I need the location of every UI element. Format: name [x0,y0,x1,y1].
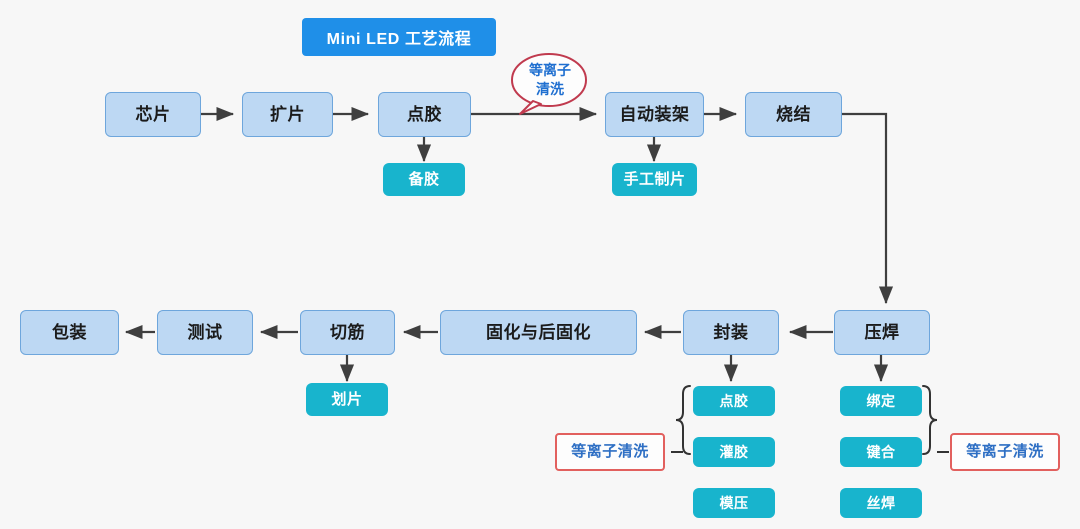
sub-node-label: 丝焊 [867,495,896,511]
group-right-item-die-bond[interactable]: 绑定 [840,386,922,416]
flowchart-canvas: Mini LED 工艺流程 芯片 扩片 点胶 自动装架 烧结 备胶 手工制片 等… [0,0,1080,529]
sub-node-label: 手工制片 [623,171,685,188]
process-label: 封装 [714,323,749,343]
sub-node-label: 键合 [867,444,896,460]
group-right-item-wire-weld[interactable]: 丝焊 [840,488,922,518]
process-node-chip[interactable]: 芯片 [105,92,201,137]
plasma-callout-bubble-shape [512,54,586,114]
group-left-item-molding[interactable]: 模压 [693,488,775,518]
connector-sinter-to-bond [842,114,886,303]
sub-node-label: 绑定 [867,393,896,409]
sub-node-label: 模压 [720,495,749,511]
process-label: 固化与后固化 [486,323,591,343]
process-node-bonding[interactable]: 压焊 [834,310,930,355]
brace-right-group [923,386,937,454]
process-node-sinter[interactable]: 烧结 [745,92,842,137]
process-label: 扩片 [270,105,305,125]
process-node-trim[interactable]: 切筋 [300,310,395,355]
callout-label: 等离子清洗 [966,443,1044,460]
process-node-curing[interactable]: 固化与后固化 [440,310,637,355]
group-right-item-wire-bond[interactable]: 键合 [840,437,922,467]
process-node-dispense[interactable]: 点胶 [378,92,471,137]
callout-label: 等离子清洗 [571,443,649,460]
group-right-plasma-callout[interactable]: 等离子清洗 [950,433,1060,471]
process-label: 包装 [52,323,87,343]
chart-title-label: Mini LED 工艺流程 [327,25,472,49]
process-label: 自动装架 [620,105,690,125]
sub-node-scribing[interactable]: 划片 [306,383,388,416]
group-left-item-potting[interactable]: 灌胶 [693,437,775,467]
group-left-item-dispense[interactable]: 点胶 [693,386,775,416]
process-label: 测试 [188,323,223,343]
sub-node-manual-prep[interactable]: 手工制片 [612,163,697,196]
sub-node-label: 点胶 [720,393,749,409]
process-node-testing[interactable]: 测试 [157,310,253,355]
plasma-callout-line-2: 清洗 [536,80,564,99]
process-node-expand[interactable]: 扩片 [242,92,333,137]
sub-node-spare-glue[interactable]: 备胶 [383,163,465,196]
process-node-encapsulation[interactable]: 封装 [683,310,779,355]
sub-node-label: 划片 [331,391,362,408]
chart-title-banner: Mini LED 工艺流程 [302,18,496,56]
group-left-plasma-callout[interactable]: 等离子清洗 [555,433,665,471]
process-label: 芯片 [136,105,171,125]
process-label: 点胶 [407,105,442,125]
plasma-callout-bubble-text: 等离子 清洗 [513,58,587,102]
sub-node-label: 备胶 [408,171,439,188]
process-node-packaging[interactable]: 包装 [20,310,119,355]
plasma-callout-line-1: 等离子 [529,61,571,80]
process-label: 烧结 [776,105,811,125]
brace-left-group [676,386,690,454]
process-label: 切筋 [330,323,365,343]
process-label: 压焊 [865,323,900,343]
process-node-auto-mount[interactable]: 自动装架 [605,92,704,137]
sub-node-label: 灌胶 [720,444,749,460]
